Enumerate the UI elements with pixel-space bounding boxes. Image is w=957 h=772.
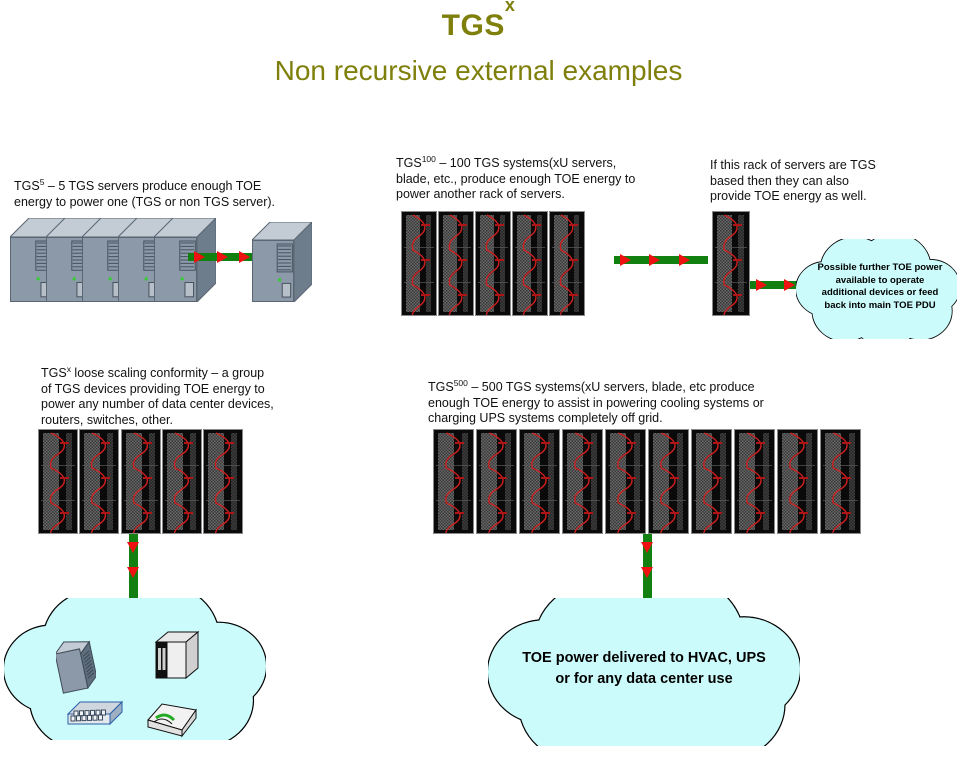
rack-status-led <box>184 512 193 514</box>
flow-arrow-icon <box>127 542 139 553</box>
rack-status-led <box>455 442 464 444</box>
server-rack-icon <box>79 429 119 534</box>
rack-status-led <box>498 512 507 514</box>
tgsx-caption-line3: power any number of data center devices, <box>41 397 351 413</box>
flow-arrow-icon <box>756 279 767 291</box>
rack-status-led <box>495 294 504 296</box>
tgs5-caption-rest: – 5 TGS servers produce enough TOE <box>44 179 261 193</box>
server-rack-icon <box>476 429 517 534</box>
cloud-pdu-line3: additional devices or feed <box>806 287 954 300</box>
cloud-pdu-text: Possible further TOE power available to … <box>806 262 954 312</box>
tgs500-caption-prefix: TGS <box>428 380 454 394</box>
cloud-pdu-line1: Possible further TOE power <box>806 262 954 275</box>
rack-cable-curve <box>520 431 560 534</box>
rack-cable-curve <box>778 431 818 534</box>
server-rack-icon <box>203 429 243 534</box>
rack-cable-curve <box>434 431 474 534</box>
rack-status-led <box>799 477 808 479</box>
rack-cable-curve <box>735 431 775 534</box>
rack-status-led <box>60 477 69 479</box>
rack-status-led <box>421 224 430 226</box>
tgsx-rack-group <box>38 429 243 534</box>
tgs100-caption: TGS100 – 100 TGS systems(xU servers, bla… <box>396 152 696 203</box>
flow-arrow-icon <box>641 542 653 553</box>
server-rack-icon <box>519 429 560 534</box>
switch-icon <box>66 698 128 737</box>
tgs5-target-server <box>252 222 312 302</box>
server-rack-icon <box>162 429 202 534</box>
rack-status-led <box>670 442 679 444</box>
flow-arrow-icon <box>127 567 139 578</box>
rack-status-led <box>458 224 467 226</box>
rack-status-led <box>143 477 152 479</box>
rack-status-led <box>225 512 234 514</box>
server-rack-icon <box>562 429 603 534</box>
rack-status-led <box>184 477 193 479</box>
rack-status-led <box>584 442 593 444</box>
tgs5-power-connector <box>188 250 260 264</box>
tgsx-caption-line2: of TGS devices providing TOE energy to <box>41 382 351 398</box>
rack-status-led <box>532 224 541 226</box>
cloud-hvac-line1: TOE power delivered to HVAC, UPS <box>508 648 780 669</box>
rack-cable-curve <box>550 213 585 316</box>
server-rack-icon <box>691 429 732 534</box>
flow-arrow-icon <box>194 251 205 263</box>
rack-status-led <box>541 442 550 444</box>
rack-status-led <box>842 477 851 479</box>
page-title: TGSx <box>0 8 957 43</box>
rack-cable-curve <box>563 431 603 534</box>
rack-status-led <box>455 512 464 514</box>
tgsx-caption-prefix: TGS <box>41 366 67 380</box>
rack-status-led <box>584 512 593 514</box>
tgs5-caption-prefix: TGS <box>14 179 40 193</box>
cloud-hvac-line2: or for any data center use <box>508 669 780 690</box>
rack-status-led <box>541 477 550 479</box>
rack-cable-curve <box>476 213 511 316</box>
rack-status-led <box>225 477 234 479</box>
rack-cable-curve <box>204 431 243 534</box>
server-rack-icon <box>433 429 474 534</box>
rack-status-led <box>569 294 578 296</box>
tgsx-caption-line4: routers, switches, other. <box>41 413 351 429</box>
rack-status-led <box>498 477 507 479</box>
tgs500-caption-exponent: 500 <box>454 378 468 388</box>
cloud-pdu-line2: available to operate <box>806 275 954 288</box>
rack-cable-curve <box>402 213 437 316</box>
rack-cable-curve <box>80 431 119 534</box>
cloud-hvac-text: TOE power delivered to HVAC, UPS or for … <box>508 648 780 690</box>
rack-status-led <box>60 442 69 444</box>
page-subtitle: Non recursive external examples <box>0 55 957 87</box>
rack-status-led <box>713 442 722 444</box>
tgs5-caption: TGS5 – 5 TGS servers produce enough TOE … <box>14 175 334 210</box>
tgs5-caption-line2: energy to power one (TGS or non TGS serv… <box>14 195 334 211</box>
rack-note-caption: If this rack of servers are TGS based th… <box>710 158 950 205</box>
rack-status-led <box>101 477 110 479</box>
tgs500-caption-rest: – 500 TGS systems(xU servers, blade, etc… <box>468 380 755 394</box>
rack-status-led <box>733 294 742 296</box>
tgs100-caption-prefix: TGS <box>396 156 422 170</box>
rack-cable-curve <box>606 431 646 534</box>
server-rack-icon <box>549 211 585 316</box>
flow-arrow-icon <box>239 251 250 263</box>
flow-arrow-icon <box>217 251 228 263</box>
tgsx-power-connector <box>126 534 140 604</box>
rack-status-led <box>733 259 742 261</box>
rack-status-led <box>498 442 507 444</box>
server-rack-icon <box>734 429 775 534</box>
rack-status-led <box>756 512 765 514</box>
rack-status-led <box>184 442 193 444</box>
server-box-icon <box>152 630 200 691</box>
rack-status-led <box>842 442 851 444</box>
rack-cable-curve <box>39 431 78 534</box>
rack-status-led <box>60 512 69 514</box>
rack-status-led <box>670 477 679 479</box>
server-rack-icon <box>512 211 548 316</box>
rack-status-led <box>532 294 541 296</box>
rack-status-led <box>101 442 110 444</box>
rack-note-line3: provide TOE energy as well. <box>710 189 950 205</box>
rack-status-led <box>713 477 722 479</box>
flow-arrow-icon <box>649 254 660 266</box>
rack-status-led <box>143 442 152 444</box>
rack-status-led <box>756 477 765 479</box>
server-rack-icon <box>438 211 474 316</box>
server-rack-icon <box>648 429 689 534</box>
rack-status-led <box>799 442 808 444</box>
flow-arrow-icon <box>679 254 690 266</box>
server-rack-icon <box>777 429 818 534</box>
router-icon <box>144 700 200 743</box>
rack-status-led <box>495 224 504 226</box>
rack-status-led <box>421 259 430 261</box>
rack-status-led <box>143 512 152 514</box>
rack-status-led <box>627 442 636 444</box>
rack-status-led <box>627 512 636 514</box>
rack-note-line1: If this rack of servers are TGS <box>710 158 950 174</box>
tgs500-power-connector <box>640 534 654 604</box>
server-rack-icon <box>820 429 861 534</box>
rack-status-led <box>799 512 808 514</box>
tgs500-caption-line3: charging UPS systems completely off grid… <box>428 411 828 427</box>
server-rack-icon <box>121 429 161 534</box>
rack-status-led <box>733 224 742 226</box>
server-tower-icon <box>56 638 96 699</box>
server-rack-icon <box>712 211 750 316</box>
flow-arrow-icon <box>784 279 795 291</box>
rack-status-led <box>842 512 851 514</box>
tgs100-rack-group <box>401 211 585 316</box>
rack-status-led <box>569 224 578 226</box>
tgs100-power-connector-left <box>614 253 708 267</box>
rack-status-led <box>495 259 504 261</box>
server-rack-icon <box>38 429 78 534</box>
rack-cable-curve <box>477 431 517 534</box>
rack-cable-curve <box>692 431 732 534</box>
rack-status-led <box>455 477 464 479</box>
flow-arrow-icon <box>620 254 631 266</box>
rack-status-led <box>713 512 722 514</box>
rack-status-led <box>627 477 636 479</box>
rack-cable-curve <box>821 431 861 534</box>
rack-cable-curve <box>122 431 161 534</box>
rack-status-led <box>670 512 679 514</box>
tgs100-caption-exponent: 100 <box>422 154 436 164</box>
rack-cable-curve <box>513 213 548 316</box>
tgs100-target-rack <box>712 211 750 316</box>
cloud-pdu-line4: back into main TOE PDU <box>806 300 954 313</box>
rack-cable-curve <box>439 213 474 316</box>
rack-status-led <box>458 259 467 261</box>
tgs500-caption-line2: enough TOE energy to assist in powering … <box>428 396 828 412</box>
rack-status-led <box>569 259 578 261</box>
cloud-devices <box>4 598 266 740</box>
tgs500-rack-group <box>433 429 861 534</box>
tgs100-caption-rest: – 100 TGS systems(xU servers, <box>436 156 616 170</box>
tgs100-caption-line2: blade, etc., produce enough TOE energy t… <box>396 172 696 188</box>
rack-status-led <box>584 477 593 479</box>
page-title-text: TGS <box>442 9 505 42</box>
tgs500-caption: TGS500 – 500 TGS systems(xU servers, bla… <box>428 376 828 427</box>
server-rack-icon <box>475 211 511 316</box>
rack-status-led <box>101 512 110 514</box>
flow-arrow-icon <box>641 567 653 578</box>
rack-status-led <box>458 294 467 296</box>
page-title-exponent: x <box>505 0 516 15</box>
rack-status-led <box>756 442 765 444</box>
tgs100-caption-line3: power another rack of servers. <box>396 187 696 203</box>
rack-cable-curve <box>649 431 689 534</box>
server-rack-icon <box>605 429 646 534</box>
rack-status-led <box>225 442 234 444</box>
rack-status-led <box>541 512 550 514</box>
rack-status-led <box>421 294 430 296</box>
rack-note-line2: based then they can also <box>710 174 950 190</box>
tgsx-caption-rest: loose scaling conformity – a group <box>71 366 264 380</box>
tgsx-caption: TGSx loose scaling conformity – a group … <box>41 362 351 428</box>
server-tower-icon <box>252 222 312 302</box>
rack-cable-curve <box>713 213 750 316</box>
rack-cable-curve <box>163 431 202 534</box>
rack-status-led <box>532 259 541 261</box>
server-rack-icon <box>401 211 437 316</box>
